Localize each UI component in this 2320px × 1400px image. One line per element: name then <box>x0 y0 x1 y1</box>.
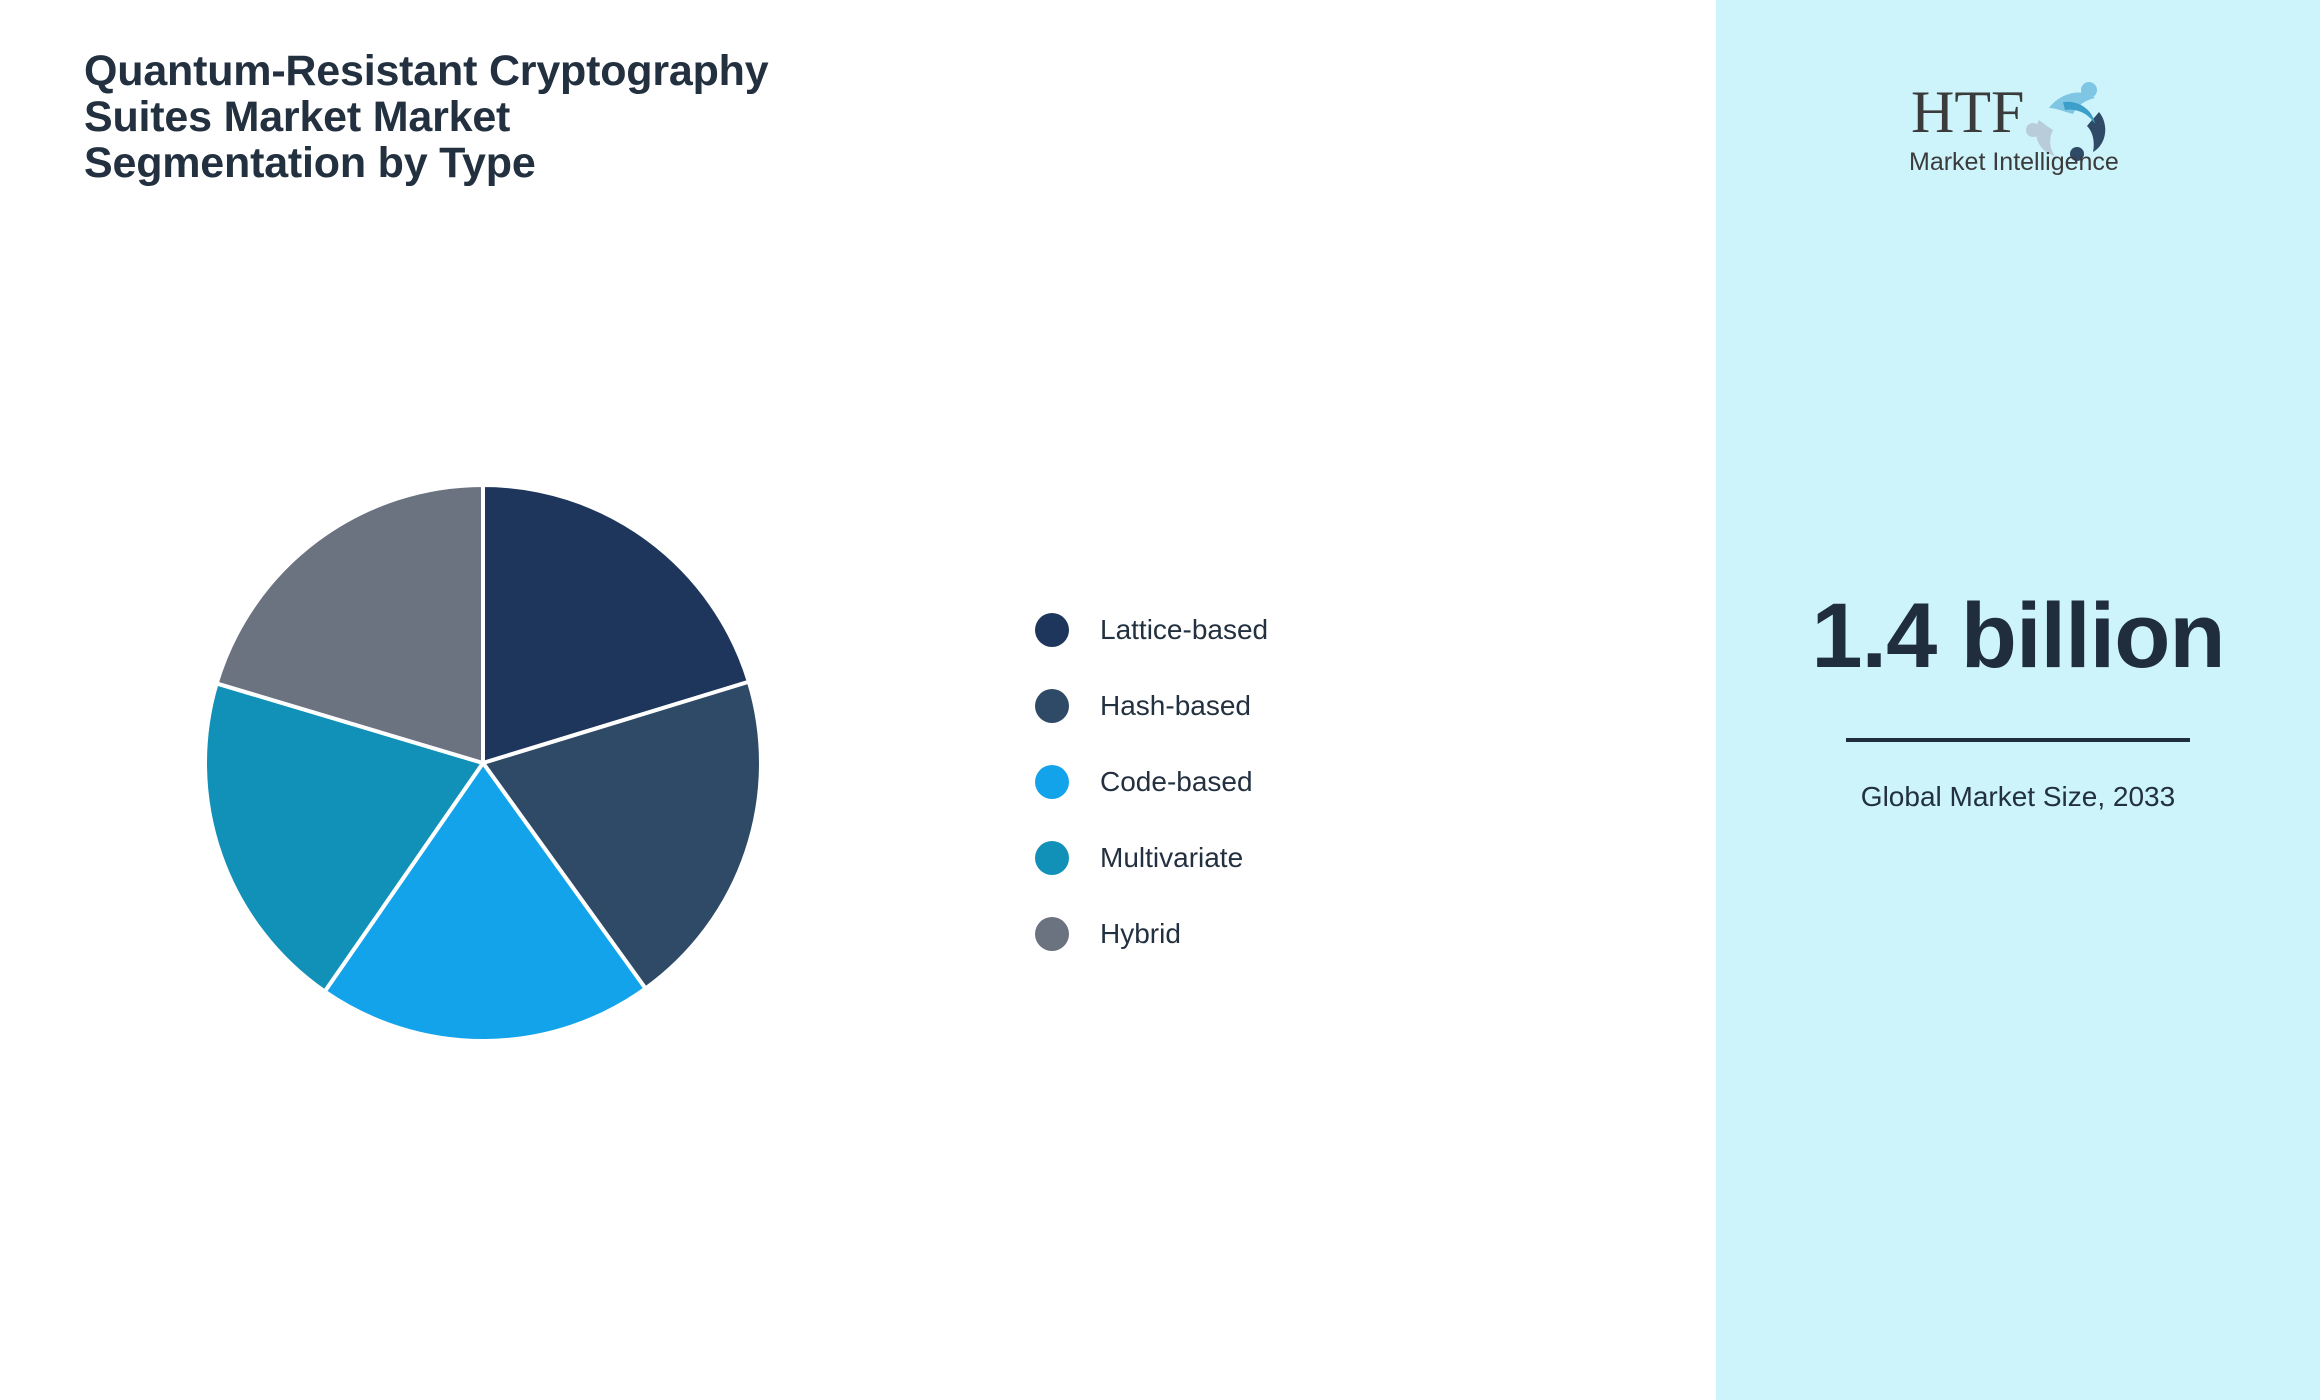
logo-svg: HTF Market Intelligence <box>1903 68 2133 180</box>
highlight-panel: HTF Market Intelligence <box>1716 0 2320 1400</box>
logo-wordmark-text: HTF <box>1911 79 2024 145</box>
legend-item-label: Code-based <box>1100 768 1253 796</box>
key-stat: 1.4 billion Global Market Size, 2033 <box>1716 590 2320 814</box>
pie-chart <box>200 480 766 1046</box>
htf-market-intelligence-logo: HTF Market Intelligence <box>1903 68 2133 180</box>
stat-caption: Global Market Size, 2033 <box>1716 780 2320 814</box>
infographic-canvas: Quantum-Resistant Cryptography Suites Ma… <box>0 0 2320 1400</box>
stat-value: 1.4 billion <box>1716 590 2320 682</box>
legend-swatch-icon <box>1035 689 1069 723</box>
legend-item-label: Hybrid <box>1100 920 1181 948</box>
legend-item: Hybrid <box>1035 896 1268 972</box>
pie-chart-svg <box>200 480 766 1046</box>
legend-item-label: Lattice-based <box>1100 616 1268 644</box>
legend-item: Code-based <box>1035 744 1268 820</box>
page-title: Quantum-Resistant Cryptography Suites Ma… <box>84 48 1084 186</box>
legend-item-label: Multivariate <box>1100 844 1243 872</box>
stat-divider <box>1846 738 2190 742</box>
legend-item: Multivariate <box>1035 820 1268 896</box>
legend-swatch-icon <box>1035 917 1069 951</box>
legend-swatch-icon <box>1035 841 1069 875</box>
chart-legend: Lattice-basedHash-basedCode-basedMultiva… <box>1035 592 1268 972</box>
logo-tagline-text: Market Intelligence <box>1909 148 2119 176</box>
legend-item-label: Hash-based <box>1100 692 1251 720</box>
legend-item: Lattice-based <box>1035 592 1268 668</box>
main-panel: Quantum-Resistant Cryptography Suites Ma… <box>0 0 1716 1400</box>
legend-swatch-icon <box>1035 765 1069 799</box>
legend-swatch-icon <box>1035 613 1069 647</box>
legend-item: Hash-based <box>1035 668 1268 744</box>
